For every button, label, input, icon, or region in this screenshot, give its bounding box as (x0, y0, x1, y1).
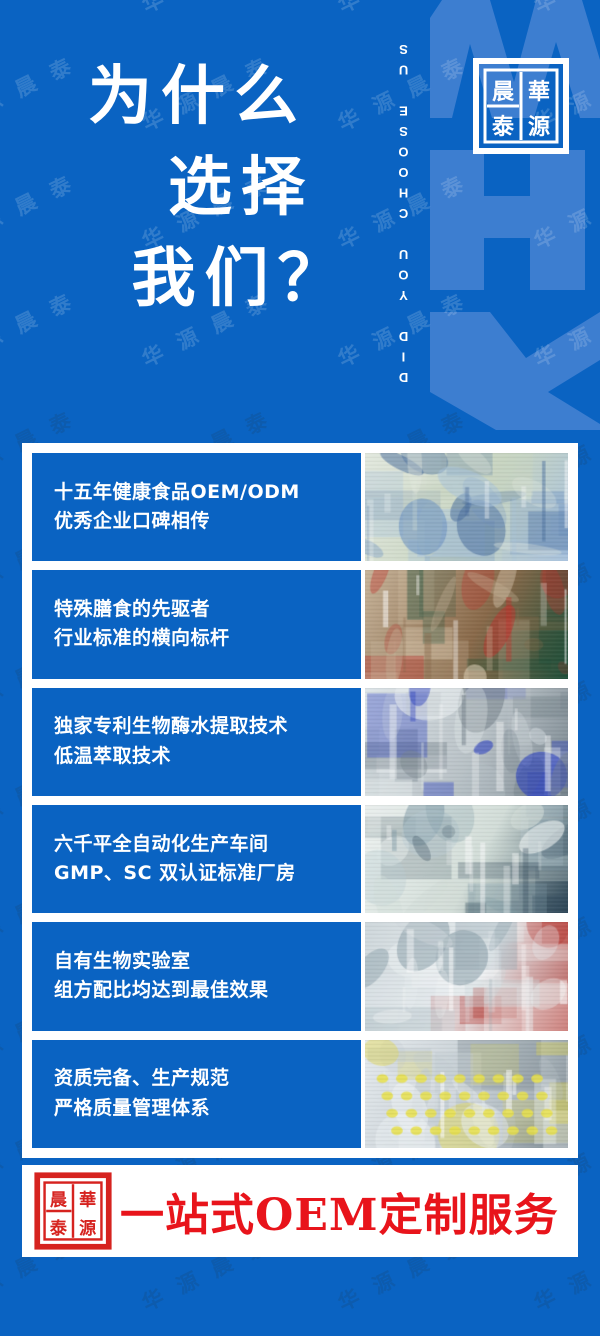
feature-line-1: 自有生物实验室 (54, 947, 361, 976)
feature-line-1: 独家专利生物酶水提取技术 (54, 712, 361, 741)
svg-text:源: 源 (528, 114, 550, 140)
feature-line-2: 行业标准的横向标杆 (54, 624, 361, 653)
poster-root: 为什么 选择 我们？ DID YOU CHOOSE US 晨 華 泰 源 十五年… (0, 0, 600, 1336)
brand-seal-white-icon: 晨 華 泰 源 (473, 58, 569, 154)
svg-text:泰: 泰 (50, 1218, 68, 1239)
feature-row: 十五年健康食品OEM/ODM优秀企业口碑相传 (32, 453, 568, 561)
svg-text:晨: 晨 (492, 79, 515, 105)
feature-row: 特殊膳食的先驱者行业标准的横向标杆 (32, 570, 568, 678)
feature-line-1: 特殊膳食的先驱者 (54, 595, 361, 624)
features-list: 十五年健康食品OEM/ODM优秀企业口碑相传特殊膳食的先驱者行业标准的横向标杆独… (32, 453, 568, 1148)
vertical-english-caption: DID YOU CHOOSE US (396, 22, 422, 400)
page-title: 为什么 选择 我们？ (88, 52, 378, 325)
feature-line-2: 严格质量管理体系 (54, 1094, 361, 1123)
footer-headline: 一站式OEM定制服务 (120, 1179, 559, 1243)
feature-line-2: 低温萃取技术 (54, 742, 361, 771)
title-line-1: 为什么 (88, 52, 378, 143)
feature-text-panel: 独家专利生物酶水提取技术低温萃取技术 (32, 688, 361, 796)
brand-seal-red-icon: 晨 華 泰 源 (34, 1172, 112, 1250)
feature-line-2: 组方配比均达到最佳效果 (54, 976, 361, 1005)
title-line-2: 选择 (88, 143, 378, 234)
technicians-at-packaging-line (365, 922, 568, 1030)
feature-line-1: 六千平全自动化生产车间 (54, 830, 361, 859)
footer-banner: 晨 華 泰 源 一站式OEM定制服务 (22, 1165, 578, 1257)
svg-text:源: 源 (79, 1218, 96, 1239)
conference-audience-hall (365, 570, 568, 678)
feature-text-panel: 自有生物实验室组方配比均达到最佳效果 (32, 922, 361, 1030)
feature-text-panel: 资质完备、生产规范严格质量管理体系 (32, 1040, 361, 1148)
feature-row: 六千平全自动化生产车间GMP、SC 双认证标准厂房 (32, 805, 568, 913)
feature-text-panel: 六千平全自动化生产车间GMP、SC 双认证标准厂房 (32, 805, 361, 913)
feature-row: 独家专利生物酶水提取技术低温萃取技术 (32, 688, 568, 796)
feature-row: 资质完备、生产规范严格质量管理体系 (32, 1040, 568, 1148)
svg-text:泰: 泰 (491, 114, 515, 140)
feature-line-2: GMP、SC 双认证标准厂房 (54, 859, 361, 888)
feature-text-panel: 特殊膳食的先驱者行业标准的横向标杆 (32, 570, 361, 678)
feature-line-1: 资质完备、生产规范 (54, 1064, 361, 1093)
feature-row: 自有生物实验室组方配比均达到最佳效果 (32, 922, 568, 1030)
svg-text:晨: 晨 (50, 1190, 68, 1210)
feature-line-1: 十五年健康食品OEM/ODM (54, 478, 361, 507)
title-line-3: 我们？ (88, 234, 378, 325)
cleanroom-corridor-window (365, 805, 568, 913)
svg-text:華: 華 (79, 1190, 96, 1210)
feature-line-2: 优秀企业口碑相传 (54, 507, 361, 536)
features-frame: 十五年健康食品OEM/ODM优秀企业口碑相传特殊膳食的先驱者行业标准的横向标杆独… (22, 443, 578, 1158)
blister-pack-tablet-machine (365, 1040, 568, 1148)
lab-technician-inspecting-vial (365, 453, 568, 561)
filling-machine-nozzles (365, 688, 568, 796)
feature-text-panel: 十五年健康食品OEM/ODM优秀企业口碑相传 (32, 453, 361, 561)
poster-header: 为什么 选择 我们？ DID YOU CHOOSE US 晨 華 泰 源 (0, 0, 600, 432)
svg-text:華: 華 (528, 79, 550, 105)
